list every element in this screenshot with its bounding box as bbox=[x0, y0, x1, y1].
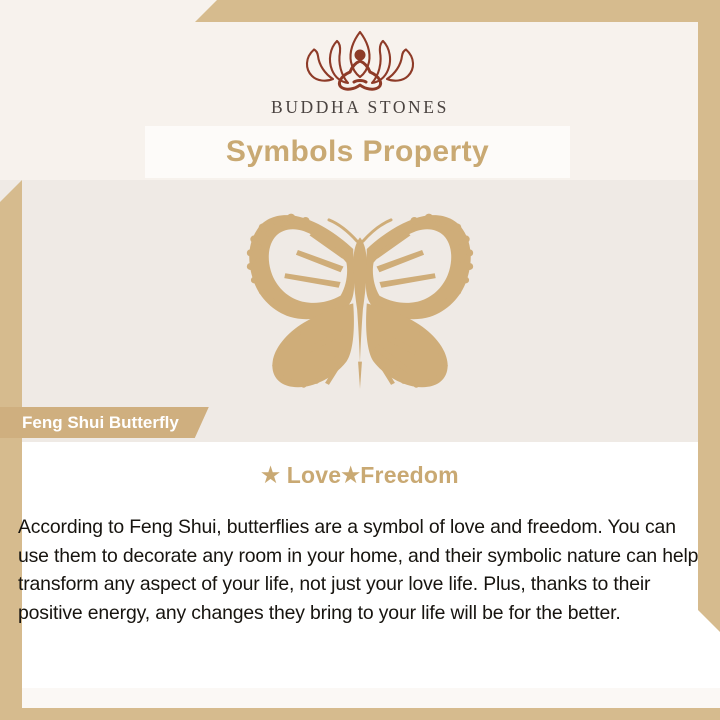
description-paragraph: According to Feng Shui, butterflies are … bbox=[18, 513, 708, 627]
heading-word-love: Love bbox=[287, 462, 341, 488]
brand-logo: BUDDHA STONES bbox=[0, 26, 720, 118]
star-icon-left: ★ bbox=[261, 464, 280, 487]
star-icon-middle: ★ bbox=[341, 464, 360, 487]
promo-card: BUDDHA STONES Symbols Property bbox=[0, 0, 720, 720]
brand-name: BUDDHA STONES bbox=[0, 97, 720, 118]
section-heading: ★ Love★Freedom bbox=[0, 462, 720, 489]
feature-badge-label: Feng Shui Butterfly bbox=[22, 413, 179, 433]
title-banner: Symbols Property bbox=[145, 126, 570, 178]
page-title: Symbols Property bbox=[226, 135, 489, 169]
feature-badge: Feng Shui Butterfly bbox=[0, 407, 209, 438]
butterfly-icon bbox=[195, 198, 525, 398]
feature-image bbox=[0, 198, 720, 403]
frame-bottom-bar bbox=[0, 708, 720, 720]
heading-word-freedom: Freedom bbox=[360, 462, 459, 488]
frame-top-bar bbox=[195, 0, 720, 22]
lotus-meditation-icon bbox=[285, 26, 435, 92]
